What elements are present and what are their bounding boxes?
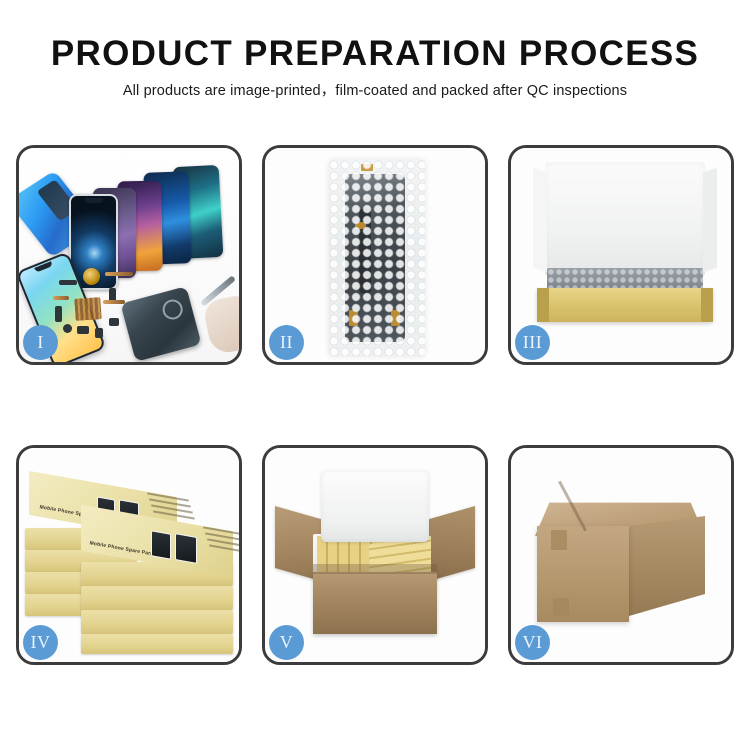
tape-strip: [553, 598, 569, 616]
step-badge-4: IV: [23, 625, 58, 660]
step-panel-5: V: [262, 445, 488, 665]
stacked-box: [81, 610, 233, 634]
small-part: [77, 326, 89, 334]
stacked-box: [81, 586, 233, 610]
yellow-box-base: [537, 288, 713, 322]
step-panel-1: I: [16, 145, 242, 365]
carton-body: [313, 572, 437, 634]
copper-coil-part: [83, 268, 100, 285]
step-badge-2: II: [269, 325, 304, 360]
step-image-5: V: [265, 448, 485, 662]
step-image-3: III: [511, 148, 731, 362]
stacked-box: [81, 634, 233, 654]
step-panel-2: II: [262, 145, 488, 365]
foam-box-lid: [321, 470, 429, 542]
step-badge-6: VI: [515, 625, 550, 660]
step-image-4: Mobile Phone Spare Parts Mobile Phone Sp…: [19, 448, 239, 662]
page-title: PRODUCT PREPARATION PROCESS: [0, 34, 750, 74]
step-badge-1: I: [23, 325, 58, 360]
page-subtitle: All products are image-printed，film-coat…: [0, 82, 750, 100]
product-preparation-infographic: PRODUCT PREPARATION PROCESS All products…: [0, 0, 750, 750]
flex-cable: [105, 272, 133, 276]
chip-array-part: [74, 297, 101, 321]
step-image-2: II: [265, 148, 485, 362]
white-foam-lid: [545, 162, 705, 276]
bubble-wrap-bag: [329, 160, 425, 356]
small-part: [59, 280, 77, 285]
process-step-grid: I II III: [16, 145, 734, 665]
flex-cable: [103, 300, 125, 304]
step-image-1: I: [19, 148, 239, 362]
phone-back-housing: [120, 286, 201, 362]
step-panel-3: III: [508, 145, 734, 365]
tape-strip: [551, 530, 567, 550]
step-image-6: VI: [511, 448, 731, 662]
small-part: [63, 324, 72, 333]
small-part: [109, 318, 119, 326]
step-badge-5: V: [269, 625, 304, 660]
small-part: [55, 306, 62, 322]
step-panel-6: VI: [508, 445, 734, 665]
bubble-texture: [329, 160, 425, 356]
box-stack: Mobile Phone Spare Parts Mobile Phone Sp…: [25, 466, 237, 652]
small-part: [95, 328, 103, 338]
flex-cable: [53, 296, 69, 300]
step-badge-3: III: [515, 325, 550, 360]
box-phone-graphic: [151, 530, 171, 560]
header: PRODUCT PREPARATION PROCESS All products…: [0, 34, 750, 100]
box-phone-graphic: [175, 533, 197, 564]
carton-side-face: [629, 516, 705, 616]
step-panel-4: Mobile Phone Spare Parts Mobile Phone Sp…: [16, 445, 242, 665]
